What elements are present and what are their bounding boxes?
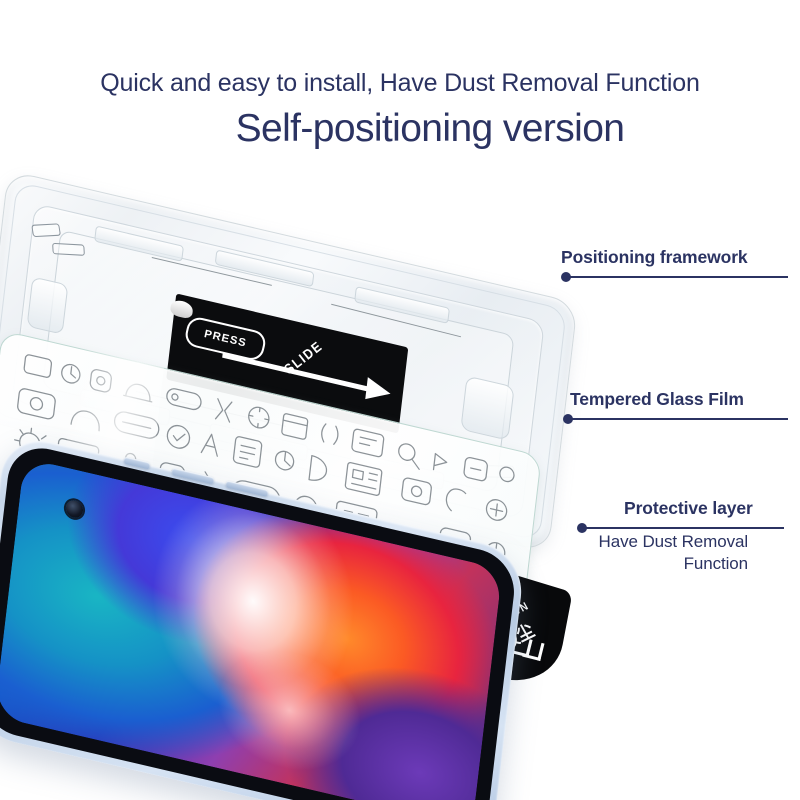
subtitle: Quick and easy to install, Have Dust Rem…	[0, 70, 800, 98]
tray-rib	[460, 376, 514, 441]
callout-label: Tempered Glass Film	[570, 389, 744, 410]
leader-dot	[561, 272, 571, 282]
callout-label: Positioning framework	[561, 247, 748, 268]
tray-rib	[27, 276, 69, 334]
callout-label: Protective layer	[624, 498, 753, 519]
leader-line	[577, 523, 785, 533]
leader-dot	[577, 523, 587, 533]
tray-clip	[52, 243, 85, 256]
leader-dot	[563, 414, 573, 424]
callout-tempered-glass-film: Tempered Glass Film	[570, 389, 744, 410]
tray-clip	[31, 223, 61, 237]
leader-line	[563, 414, 789, 424]
chevron-right-icon	[522, 639, 544, 661]
heading-block: Quick and easy to install, Have Dust Rem…	[0, 70, 800, 151]
page-title: Self-positioning version	[0, 107, 800, 152]
infographic-canvas: Quick and easy to install, Have Dust Rem…	[0, 0, 800, 800]
hand-icon	[170, 299, 194, 320]
exploded-product-illustration: PRESS SLIDE	[0, 160, 620, 780]
leader-line	[561, 272, 789, 282]
callout-protective-layer: Protective layer Have Dust Removal Funct…	[624, 498, 753, 575]
callout-sublabel: Have Dust Removal Function	[582, 531, 748, 575]
callout-positioning-framework: Positioning framework	[561, 247, 748, 268]
